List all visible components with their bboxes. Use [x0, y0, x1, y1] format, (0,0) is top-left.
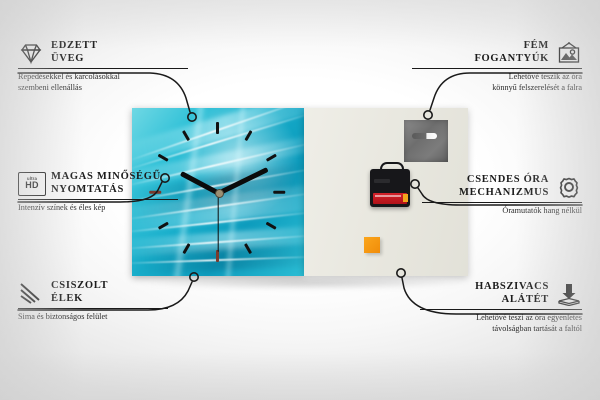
- foam-pad-part: [364, 237, 380, 253]
- battery-part: [373, 193, 407, 204]
- callout-header: FÉMFOGANTYÚK: [412, 40, 582, 65]
- ultra-hd-icon-main-label: HD: [25, 181, 39, 190]
- callout-rule: [18, 68, 188, 69]
- clock-mechanism-part: [370, 169, 410, 207]
- callout-foam-underlay[interactable]: HABSZIVACSALÁTÉT Lehetővé teszi az óra e…: [420, 281, 582, 334]
- callout-rule: [422, 202, 582, 203]
- arrow-onto-pad-icon: [556, 282, 582, 306]
- diagonal-lines-icon: [18, 281, 44, 305]
- callout-metal-handles[interactable]: FÉMFOGANTYÚK Lehetővé teszik az órakönny…: [412, 40, 582, 93]
- metal-hanger-part: [404, 120, 448, 162]
- callout-silent-mechanism[interactable]: CSENDES ÓRAMECHANIZMUS Óramutatók hang n…: [422, 174, 582, 217]
- hour-hand: [180, 171, 219, 195]
- callout-title: MAGAS MINŐSÉGŰNYOMTATÁS: [51, 171, 161, 196]
- hanger-slot: [412, 133, 437, 139]
- callout-title: FÉMFOGANTYÚK: [474, 40, 549, 65]
- callout-title: EDZETTÜVEG: [51, 40, 98, 65]
- callout-title: HABSZIVACSALÁTÉT: [475, 281, 549, 306]
- callout-rule: [420, 309, 582, 310]
- callout-title: CSISZOLTÉLEK: [51, 280, 108, 305]
- callout-rule: [412, 68, 582, 69]
- callout-description: Lehetővé teszik az órakönnyű felszerelés…: [412, 72, 582, 93]
- mechanism-loop: [380, 162, 404, 174]
- battery-terminal: [403, 194, 408, 202]
- callout-title: CSENDES ÓRAMECHANIZMUS: [459, 174, 549, 199]
- framed-picture-icon: [556, 41, 582, 65]
- callout-description: Sima és biztonságos felület: [18, 312, 168, 323]
- diamond-icon: [18, 41, 44, 65]
- callout-description: Intenzív színek és éles kép: [18, 203, 178, 214]
- callout-description: Repedésekkel és karcolásokkalszembeni el…: [18, 72, 188, 93]
- callout-tempered-glass[interactable]: EDZETTÜVEG Repedésekkel és karcolásokkal…: [18, 40, 188, 93]
- clock-hub: [215, 189, 224, 198]
- mechanism-detail: [374, 179, 390, 183]
- callout-polished-edges[interactable]: CSISZOLTÉLEK Sima és biztonságos felület: [18, 280, 168, 323]
- callout-description: Lehetővé teszi az óra egyenletestávolság…: [420, 313, 582, 334]
- callout-rule: [18, 199, 178, 200]
- ultra-hd-icon: ultra HD: [18, 172, 44, 196]
- callout-rule: [18, 308, 168, 309]
- gear-icon: [556, 175, 582, 199]
- callout-description: Óramutatók hang nélkül: [422, 206, 582, 217]
- callout-header: CSENDES ÓRAMECHANIZMUS: [422, 174, 582, 199]
- callout-header: ultra HD MAGAS MINŐSÉGŰNYOMTATÁS: [18, 171, 178, 196]
- callout-header: HABSZIVACSALÁTÉT: [420, 281, 582, 306]
- second-hand: [217, 192, 218, 252]
- minute-hand: [217, 167, 268, 195]
- callout-header: EDZETTÜVEG: [18, 40, 188, 65]
- callout-header: CSISZOLTÉLEK: [18, 280, 168, 305]
- product-image: [132, 108, 468, 276]
- infographic-canvas: EDZETTÜVEG Repedésekkel és karcolásokkal…: [0, 0, 600, 400]
- battery-label: [375, 195, 401, 197]
- callout-high-quality-print[interactable]: ultra HD MAGAS MINŐSÉGŰNYOMTATÁS Intenzí…: [18, 171, 178, 214]
